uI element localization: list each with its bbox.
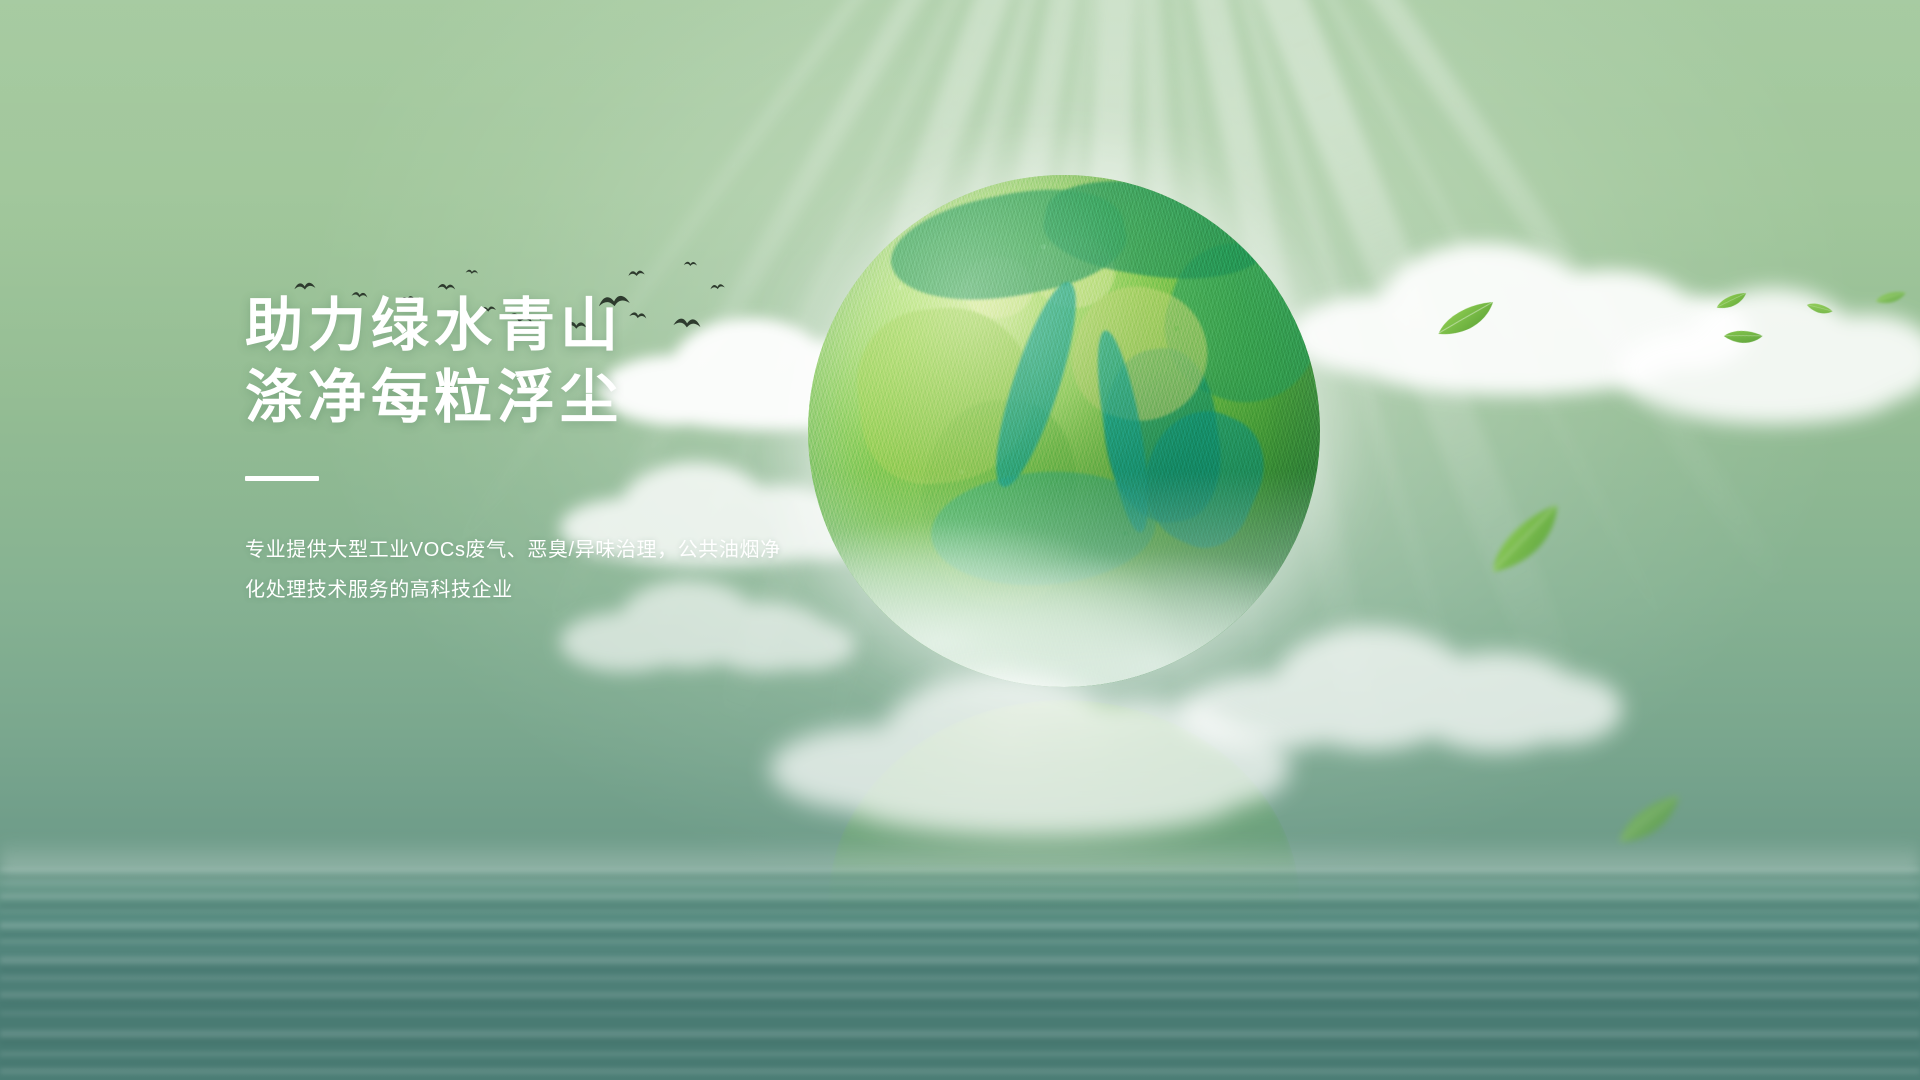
hero-banner: 助力绿水青山 涤净每粒浮尘 专业提供大型工业VOCs废气、恶臭/异味治理，公共油…: [0, 0, 1920, 1080]
cloud-puff: [770, 726, 980, 812]
water-ripple-dark: [0, 930, 1920, 939]
leaf-shape: [1481, 500, 1572, 580]
cloud-puff: [1648, 362, 1898, 424]
water-ripple-dark: [0, 998, 1920, 1007]
cloud-puff: [880, 672, 1120, 812]
cloud-puff: [560, 612, 690, 672]
leaf-shape: [1611, 791, 1688, 849]
leaf-vein: [1716, 293, 1748, 307]
leaf-icon: [1722, 327, 1764, 348]
water-ripple-dark: [0, 902, 1920, 912]
water-ripple: [0, 938, 1920, 945]
page-title: 助力绿水青山 涤净每粒浮尘: [245, 290, 965, 434]
cloud-puff: [1408, 652, 1584, 752]
bird-icon: [466, 269, 479, 274]
leaf-icon: [1609, 788, 1694, 856]
leaf-icon: [1714, 290, 1751, 314]
bird-icon: [684, 262, 697, 267]
cloud-puff: [1618, 330, 1768, 410]
leaf-vein: [1615, 796, 1684, 841]
cloud-puff: [1798, 314, 1920, 404]
leaf-shape: [1723, 328, 1763, 345]
water-ripple: [0, 1050, 1920, 1058]
water-ripple-dark: [0, 874, 1920, 882]
water-ripple-dark: [0, 962, 1920, 974]
cloud-puff: [1150, 728, 1290, 806]
cloud-puff: [840, 760, 1240, 836]
cloud-puff: [1620, 295, 1750, 370]
cloud-puff: [1350, 325, 1680, 395]
water-ripple-dark: [0, 1060, 1920, 1069]
leaf-vein: [1436, 302, 1496, 333]
cloud-puff: [1688, 288, 1858, 403]
bird-icon: [628, 270, 645, 276]
leaf-icon: [1477, 495, 1580, 589]
water-ripple-dark: [0, 1036, 1920, 1047]
hero-copy-block: 助力绿水青山 涤净每粒浮尘 专业提供大型工业VOCs废气、恶臭/异味治理，公共油…: [245, 290, 965, 610]
leaf-shape: [1875, 290, 1907, 304]
subtitle-line-1: 专业提供大型工业VOCs废气、恶臭/异味治理，公共油烟净: [245, 530, 965, 570]
leaf-icon: [1873, 290, 1908, 308]
leaf-shape: [1434, 298, 1499, 340]
leaf-icon: [1432, 297, 1503, 346]
cloud-puff: [1520, 270, 1700, 375]
cloud-puff: [1502, 674, 1622, 744]
water-surface: [0, 862, 1920, 1080]
subtitle-line-2: 化处理技术服务的高科技企业: [245, 570, 965, 610]
cloud-puff: [1040, 700, 1250, 814]
water-ripple: [0, 1010, 1920, 1017]
water-ripple: [0, 892, 1920, 901]
hero-subtitle: 专业提供大型工业VOCs废气、恶臭/异味治理，公共油烟净 化处理技术服务的高科技…: [245, 481, 965, 610]
water-ripple: [0, 974, 1920, 982]
water-ripple: [0, 866, 1920, 873]
cloud-right: [1290, 215, 1720, 405]
leaf-icon: [1805, 297, 1835, 318]
headline-line-2: 涤净每粒浮尘: [245, 362, 965, 434]
leaf-vein: [1485, 505, 1564, 570]
cloud-far-right: [1618, 270, 1918, 440]
leaf-vein: [1807, 301, 1832, 314]
leaf-shape: [1715, 291, 1749, 311]
headline-line-1: 助力绿水青山: [245, 290, 965, 362]
cloud-puff: [1380, 243, 1590, 373]
leaf-shape: [1806, 300, 1834, 318]
leaf-vein: [1875, 293, 1906, 301]
leaf-vein: [1724, 331, 1762, 341]
